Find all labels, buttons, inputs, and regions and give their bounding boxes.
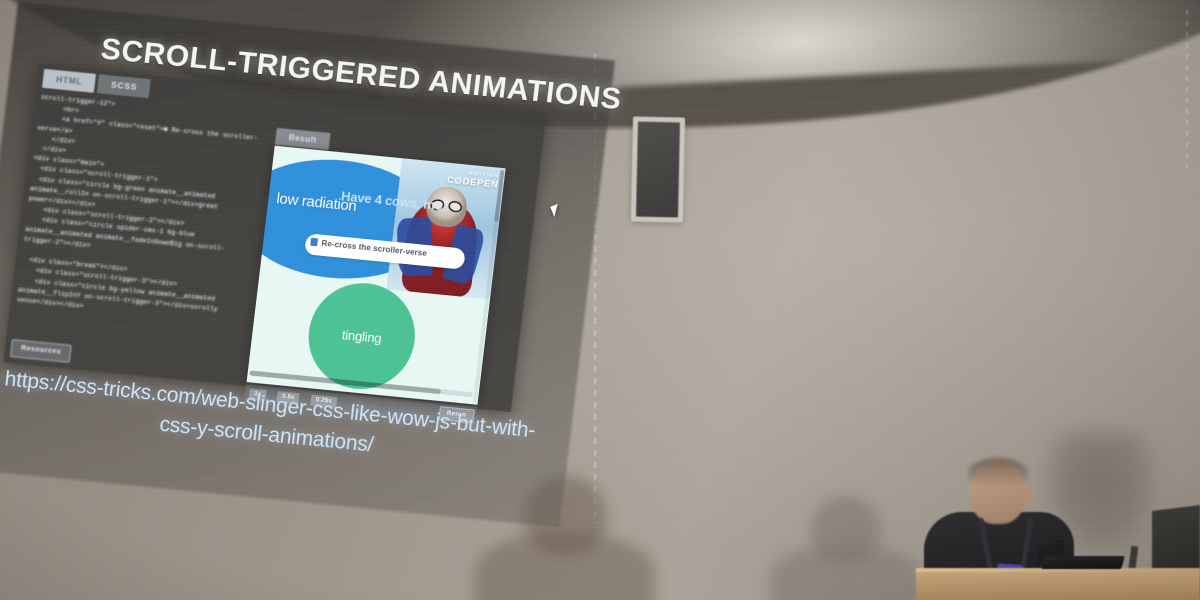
tab-html[interactable]: HTML: [42, 69, 96, 93]
speaker-hair: [968, 458, 1028, 488]
audience-silhouette-center: [766, 488, 926, 600]
wall-vent: [631, 116, 685, 222]
preview-iframe[interactable]: EDIT ON CØDEPEN Have 4 cows, mo low radi…: [247, 146, 506, 405]
laptop: [1041, 556, 1125, 569]
wall-seam-line-right: [1186, 10, 1188, 170]
tab-scss[interactable]: SCSS: [97, 74, 151, 98]
projected-slide: SCROLL-TRIGGERED ANIMATIONS HTML SCSS sc…: [0, 2, 615, 527]
speaker-ear: [1022, 486, 1034, 504]
podium: [916, 572, 1200, 600]
reset-button-icon: [310, 238, 318, 247]
spiderman-eye-right: [449, 201, 462, 212]
presentation-photo: SCROLL-TRIGGERED ANIMATIONS HTML SCSS sc…: [0, 0, 1200, 600]
resources-tab[interactable]: Resources: [10, 339, 72, 363]
codepen-result-pane: Result EDIT ON CØDEPEN Have 4: [244, 146, 506, 429]
silhouette-body: [475, 534, 655, 600]
silhouette-body: [770, 546, 922, 600]
